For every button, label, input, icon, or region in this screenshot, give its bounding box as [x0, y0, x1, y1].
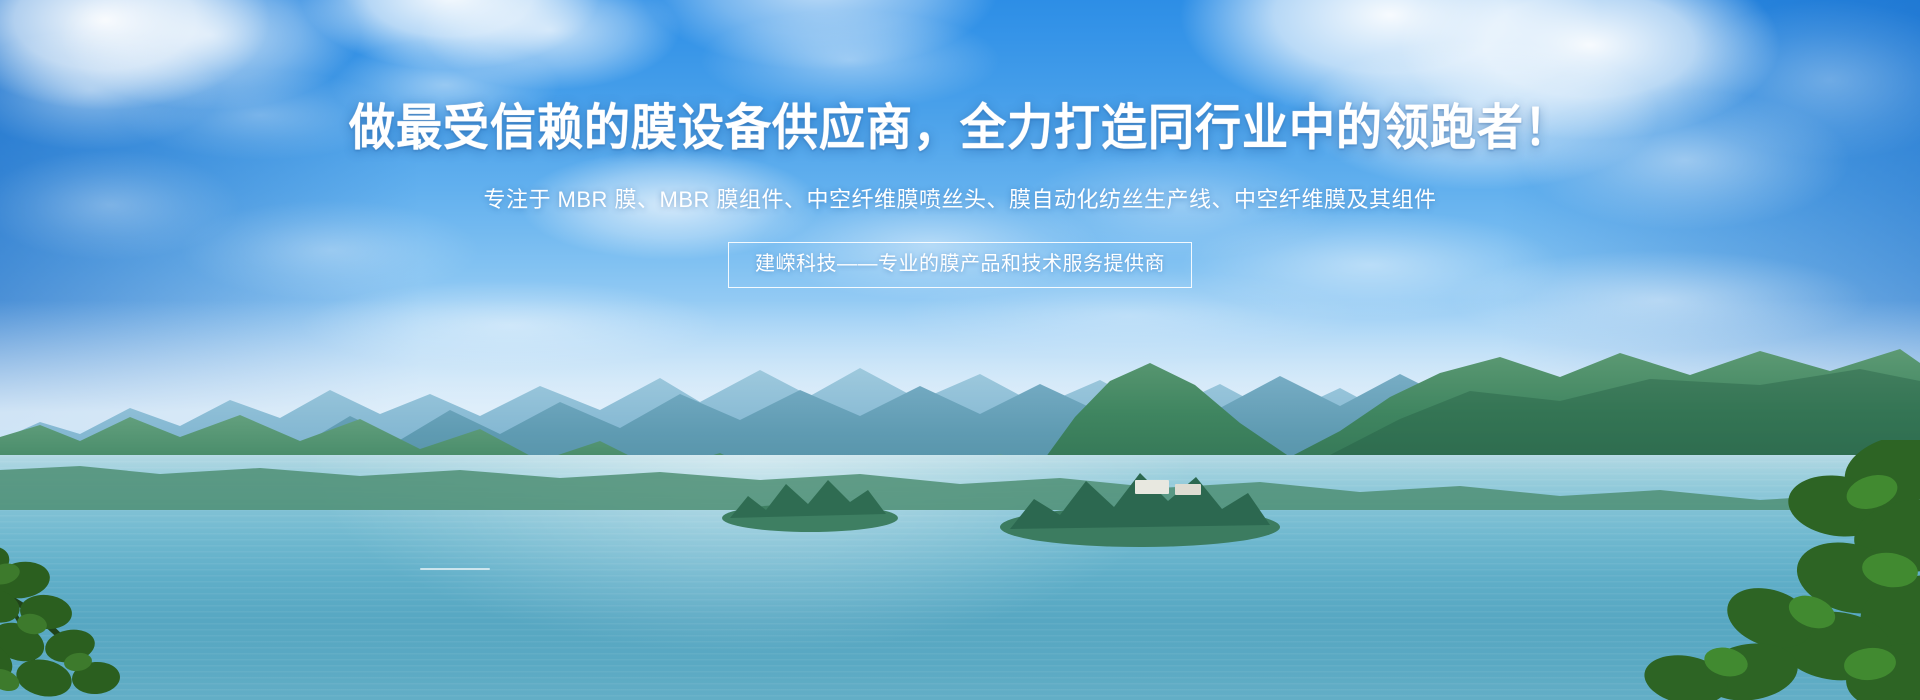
banner-tagline-container: 建嵘科技——专业的膜产品和技术服务提供商: [0, 242, 1920, 288]
banner-headline: 做最受信赖的膜设备供应商，全力打造同行业中的领跑者！: [0, 96, 1920, 159]
banner-text-content: 做最受信赖的膜设备供应商，全力打造同行业中的领跑者！ 专注于 MBR 膜、MBR…: [0, 0, 1920, 700]
banner-subheadline: 专注于 MBR 膜、MBR 膜组件、中空纤维膜喷丝头、膜自动化纺丝生产线、中空纤…: [0, 185, 1920, 215]
hero-banner: 做最受信赖的膜设备供应商，全力打造同行业中的领跑者！ 专注于 MBR 膜、MBR…: [0, 0, 1920, 700]
banner-tagline-box: 建嵘科技——专业的膜产品和技术服务提供商: [728, 242, 1192, 288]
